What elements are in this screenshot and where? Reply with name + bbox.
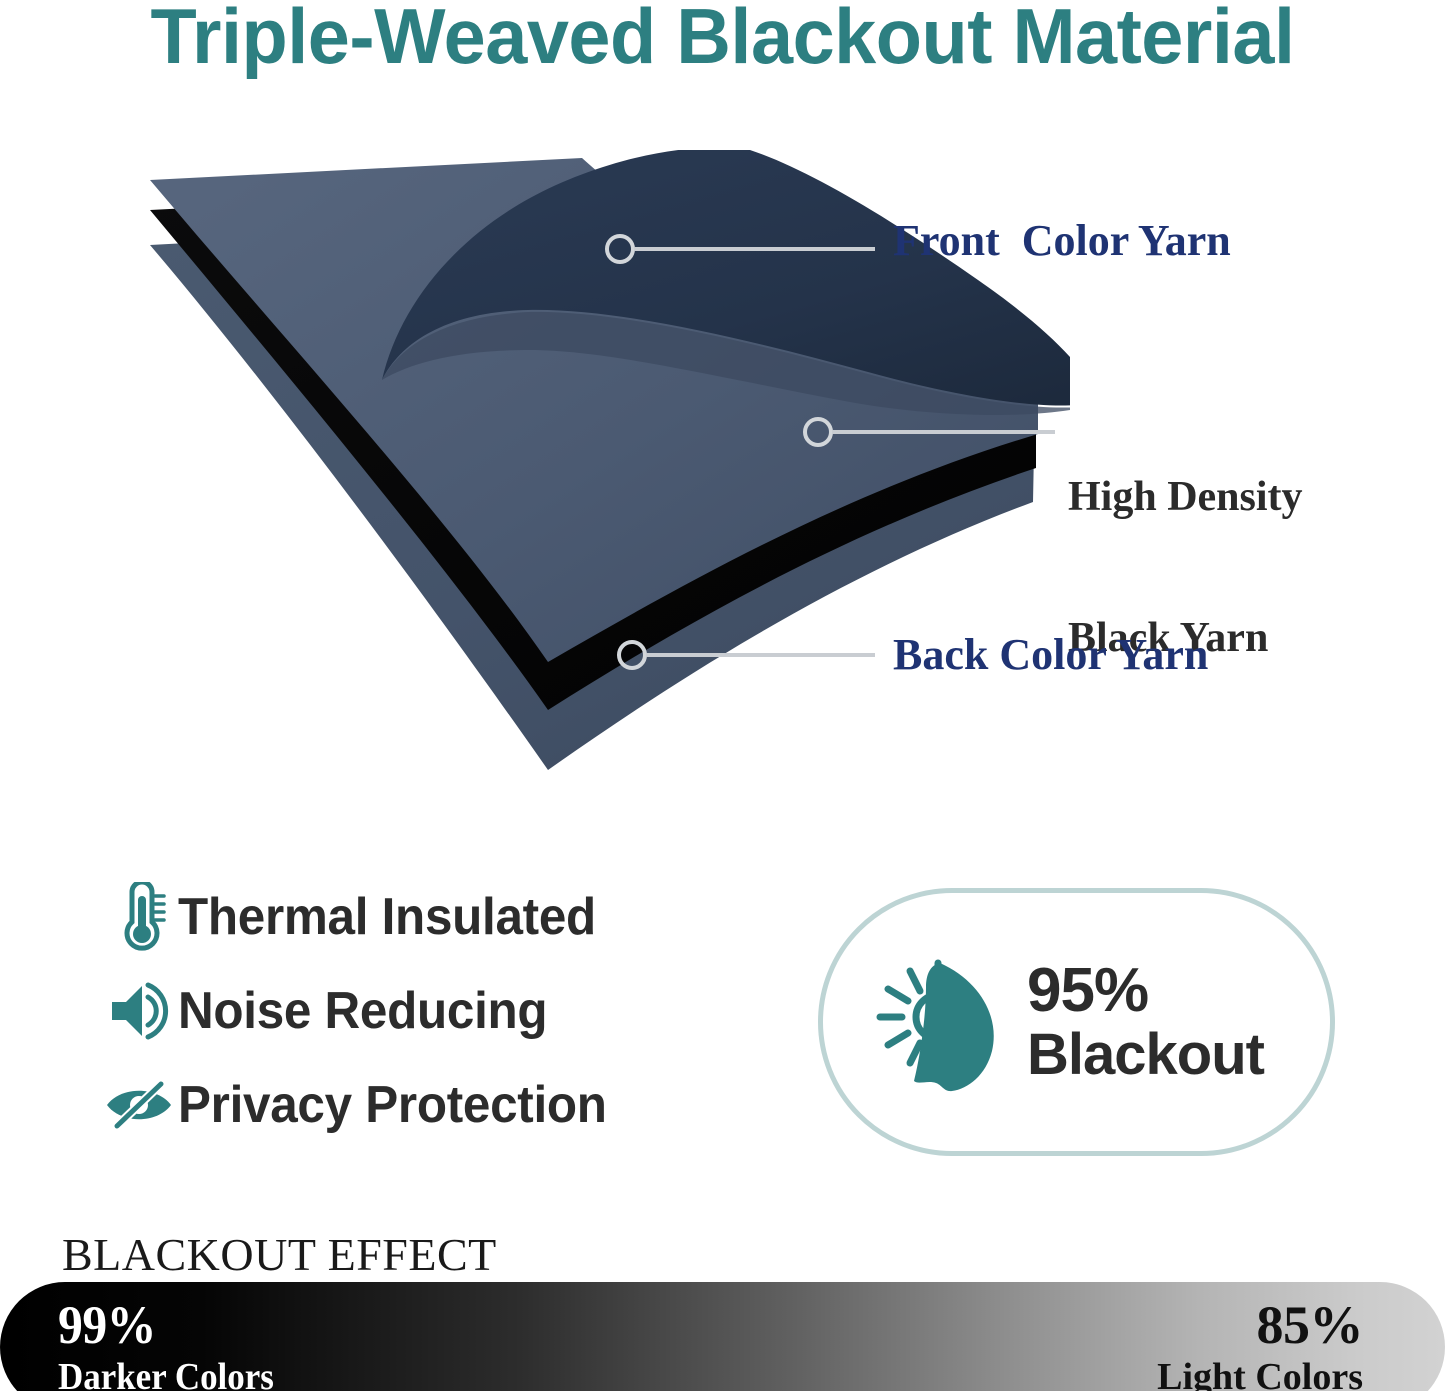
feature-thermal-insulated: Thermal Insulated — [100, 872, 760, 962]
badge-text-block: 95% Blackout — [1027, 960, 1264, 1084]
sun-blocked-icon — [863, 947, 1013, 1097]
page-title: Triple-Weaved Blackout Material — [22, 0, 1424, 78]
right-caption: Light Colors — [1157, 1358, 1363, 1391]
feature-list: Thermal Insulated Noise Reducing — [100, 872, 760, 1154]
right-percent: 85% — [1157, 1298, 1363, 1352]
blackout-effect-right-stat: 85% Light Colors — [1157, 1298, 1363, 1391]
callout-high-density-line1: High Density — [1068, 474, 1303, 521]
callout-high-density-black-yarn: High Density Black Yarn — [1068, 380, 1303, 756]
badge-word: Blackout — [1027, 1026, 1264, 1084]
feature-label-thermal-insulated: Thermal Insulated — [178, 887, 596, 947]
blackout-effect-heading: BLACKOUT EFFECT — [62, 1228, 497, 1281]
feature-label-privacy-protection: Privacy Protection — [178, 1075, 607, 1135]
eye-slash-icon — [100, 1080, 178, 1130]
badge-percent: 95% — [1027, 960, 1264, 1022]
left-percent: 99% — [58, 1298, 274, 1352]
feature-label-noise-reducing: Noise Reducing — [178, 981, 547, 1041]
feature-privacy-protection: Privacy Protection — [100, 1060, 760, 1150]
speaker-sound-icon — [100, 981, 178, 1041]
callout-front-color-yarn: Front Color Yarn — [893, 216, 1231, 265]
left-caption: Darker Colors — [58, 1358, 274, 1391]
infographic-page: Triple-Weaved Blackout Material — [0, 0, 1445, 1391]
blackout-effect-left-stat: 99% Darker Colors — [58, 1298, 293, 1391]
callout-back-color-yarn: Back Color Yarn — [893, 630, 1208, 679]
blackout-percentage-badge: 95% Blackout — [818, 888, 1335, 1156]
feature-noise-reducing: Noise Reducing — [100, 966, 760, 1056]
thermometer-icon — [100, 882, 178, 952]
